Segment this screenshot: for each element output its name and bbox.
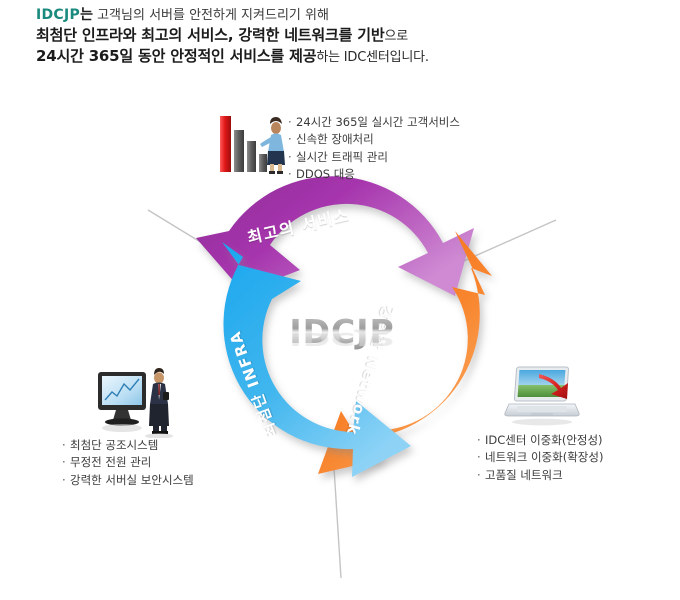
- list-item: DDOS 대응: [288, 166, 460, 183]
- list-item: IDC센터 이중화(안정성): [477, 432, 603, 449]
- list-item: 최첨단 공조시스템: [62, 437, 194, 454]
- connector-line-infra: [333, 452, 341, 578]
- list-item: 네트워크 이중화(확장성): [477, 449, 603, 466]
- list-item: 강력한 서버실 보안시스템: [62, 472, 194, 489]
- center-wordmark-reflection: IDCJP: [272, 329, 412, 350]
- list-item: 무정전 전원 관리: [62, 454, 194, 471]
- list-item: 고품질 네트워크: [477, 467, 603, 484]
- list-item: 24시간 365일 실시간 고객서비스: [288, 114, 460, 131]
- cycle-diagram-svg: [0, 0, 680, 600]
- list-item: 실시간 트래픽 관리: [288, 149, 460, 166]
- bullet-list-infra: 최첨단 공조시스템 무정전 전원 관리 강력한 서버실 보안시스템: [62, 437, 194, 489]
- bullet-list-service: 24시간 365일 실시간 고객서비스 신속한 장애처리 실시간 트래픽 관리 …: [288, 114, 460, 184]
- bullet-list-network: IDC센터 이중화(안정성) 네트워크 이중화(확장성) 고품질 네트워크: [477, 432, 603, 484]
- list-item: 신속한 장애처리: [288, 131, 460, 148]
- cycle-diagram: 최고의 서비스 강력한 Network 최첨단 INFRA IDCJP IDCJ…: [0, 0, 680, 600]
